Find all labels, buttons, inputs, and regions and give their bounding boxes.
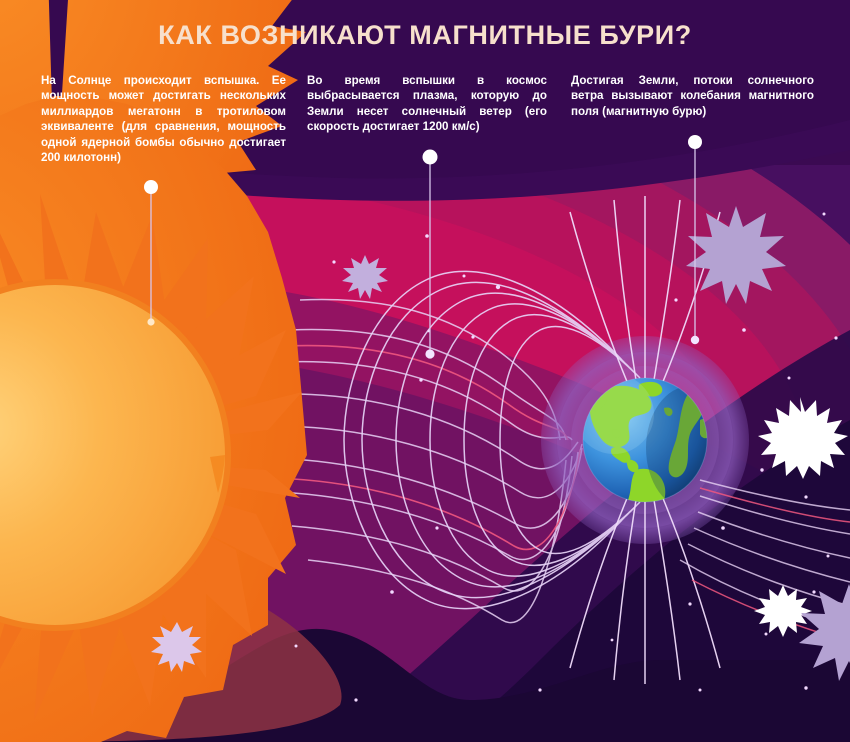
caption-magnetic-storm: Достигая Земли, потоки солнечного ветра … [571,73,814,119]
caption-plasma-solar-wind: Во время вспышки в космос выбрасывается … [307,73,547,135]
page-title: КАК ВОЗНИКАЮТ МАГНИТНЫЕ БУРИ? [0,20,850,51]
caption-solar-flare-power: На Солнце происходит вспышка. Ее мощност… [41,73,286,165]
infographic-canvas: КАК ВОЗНИКАЮТ МАГНИТНЫЕ БУРИ? На Солнце … [0,0,850,742]
